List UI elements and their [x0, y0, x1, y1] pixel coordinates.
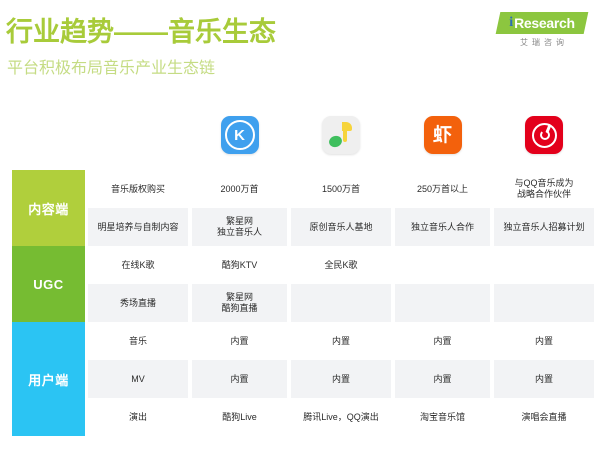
cell-kugou: 酷狗KTV	[192, 246, 287, 284]
row-label-cell: 明星培养与自制内容	[88, 208, 188, 246]
column-header-xiami[interactable]: 虾	[424, 116, 464, 156]
cell-kugou: 酷狗Live	[192, 398, 287, 436]
page-subtitle: 平台积极布局音乐产业生态链	[7, 59, 215, 79]
page-header: 行业趋势——音乐生态 平台积极布局音乐产业生态链 i Research 艾瑞咨询	[0, 0, 600, 100]
table-row: 秀场直播繁星网 酷狗直播	[0, 284, 600, 322]
category-block-UGC: UGC	[12, 246, 85, 322]
cell-xiami: 250万首以上	[395, 170, 490, 208]
cell-xiami	[395, 246, 490, 284]
cell-qqmusic: 内置	[291, 360, 391, 398]
iresearch-logo: i Research 艾瑞咨询	[492, 12, 588, 48]
cell-netease	[494, 246, 594, 284]
cell-netease	[494, 284, 594, 322]
cell-kugou: 繁星网 酷狗直播	[192, 284, 287, 322]
kugou-k-letter: K	[225, 120, 255, 150]
cell-qqmusic: 内置	[291, 322, 391, 360]
logo-i-letter: i	[509, 16, 513, 30]
cell-qqmusic: 腾讯Live，QQ演出	[291, 398, 391, 436]
cell-netease: 内置	[494, 360, 594, 398]
netease-wave-glyph	[532, 123, 557, 148]
category-block-用户端: 用户端	[12, 322, 85, 436]
cell-qqmusic: 全民K歌	[291, 246, 391, 284]
cell-qqmusic	[291, 284, 391, 322]
table-row: MV内置内置内置内置	[0, 360, 600, 398]
cell-xiami: 淘宝音乐馆	[395, 398, 490, 436]
row-label-cell: 音乐版权购买	[88, 170, 188, 208]
cell-kugou: 内置	[192, 360, 287, 398]
page-title: 行业趋势——音乐生态	[6, 16, 276, 48]
cell-qqmusic: 1500万首	[291, 170, 391, 208]
row-label-cell: 演出	[88, 398, 188, 436]
logo-banner-text: i Research	[498, 12, 586, 34]
cell-qqmusic: 原创音乐人基地	[291, 208, 391, 246]
table-row: 音乐版权购买2000万首1500万首250万首以上与QQ音乐成为 战略合作伙伴	[0, 170, 600, 208]
cell-xiami: 独立音乐人合作	[395, 208, 490, 246]
cell-kugou: 内置	[192, 322, 287, 360]
row-label-cell: 在线K歌	[88, 246, 188, 284]
cell-netease: 与QQ音乐成为 战略合作伙伴	[494, 170, 594, 208]
cell-xiami	[395, 284, 490, 322]
row-label-cell: 音乐	[88, 322, 188, 360]
cell-kugou: 繁星网 独立音乐人	[192, 208, 287, 246]
row-label-cell: 秀场直播	[88, 284, 188, 322]
logo-banner: i Research	[496, 12, 589, 34]
table-row: 音乐内置内置内置内置	[0, 322, 600, 360]
column-header-kugou[interactable]: K	[221, 116, 261, 156]
logo-research-word: Research	[514, 16, 575, 30]
kugou-icon[interactable]: K	[221, 116, 259, 154]
column-header-qqmusic[interactable]	[322, 116, 362, 156]
category-block-内容端: 内容端	[12, 170, 85, 246]
music-note-glyph	[329, 122, 353, 148]
row-label-cell: MV	[88, 360, 188, 398]
cell-netease: 独立音乐人招募计划	[494, 208, 594, 246]
xiami-icon[interactable]: 虾	[424, 116, 462, 154]
netease-music-icon[interactable]	[525, 116, 563, 154]
ecosystem-table: K虾 音乐版权购买2000万首1500万首250万首以上与QQ音乐成为 战略合作…	[0, 108, 600, 444]
table-row: 在线K歌酷狗KTV全民K歌	[0, 246, 600, 284]
table-row: 演出酷狗Live腾讯Live，QQ演出淘宝音乐馆演唱会直播	[0, 398, 600, 436]
cell-netease: 演唱会直播	[494, 398, 594, 436]
table-icon-header-row: K虾	[0, 108, 600, 170]
cell-xiami: 内置	[395, 322, 490, 360]
qq-music-icon[interactable]	[322, 116, 360, 154]
logo-chinese-name: 艾瑞咨询	[500, 37, 588, 48]
xiami-character: 虾	[433, 126, 452, 145]
table-row: 明星培养与自制内容繁星网 独立音乐人原创音乐人基地独立音乐人合作独立音乐人招募计…	[0, 208, 600, 246]
cell-xiami: 内置	[395, 360, 490, 398]
cell-netease: 内置	[494, 322, 594, 360]
cell-kugou: 2000万首	[192, 170, 287, 208]
column-header-netease[interactable]	[525, 116, 565, 156]
